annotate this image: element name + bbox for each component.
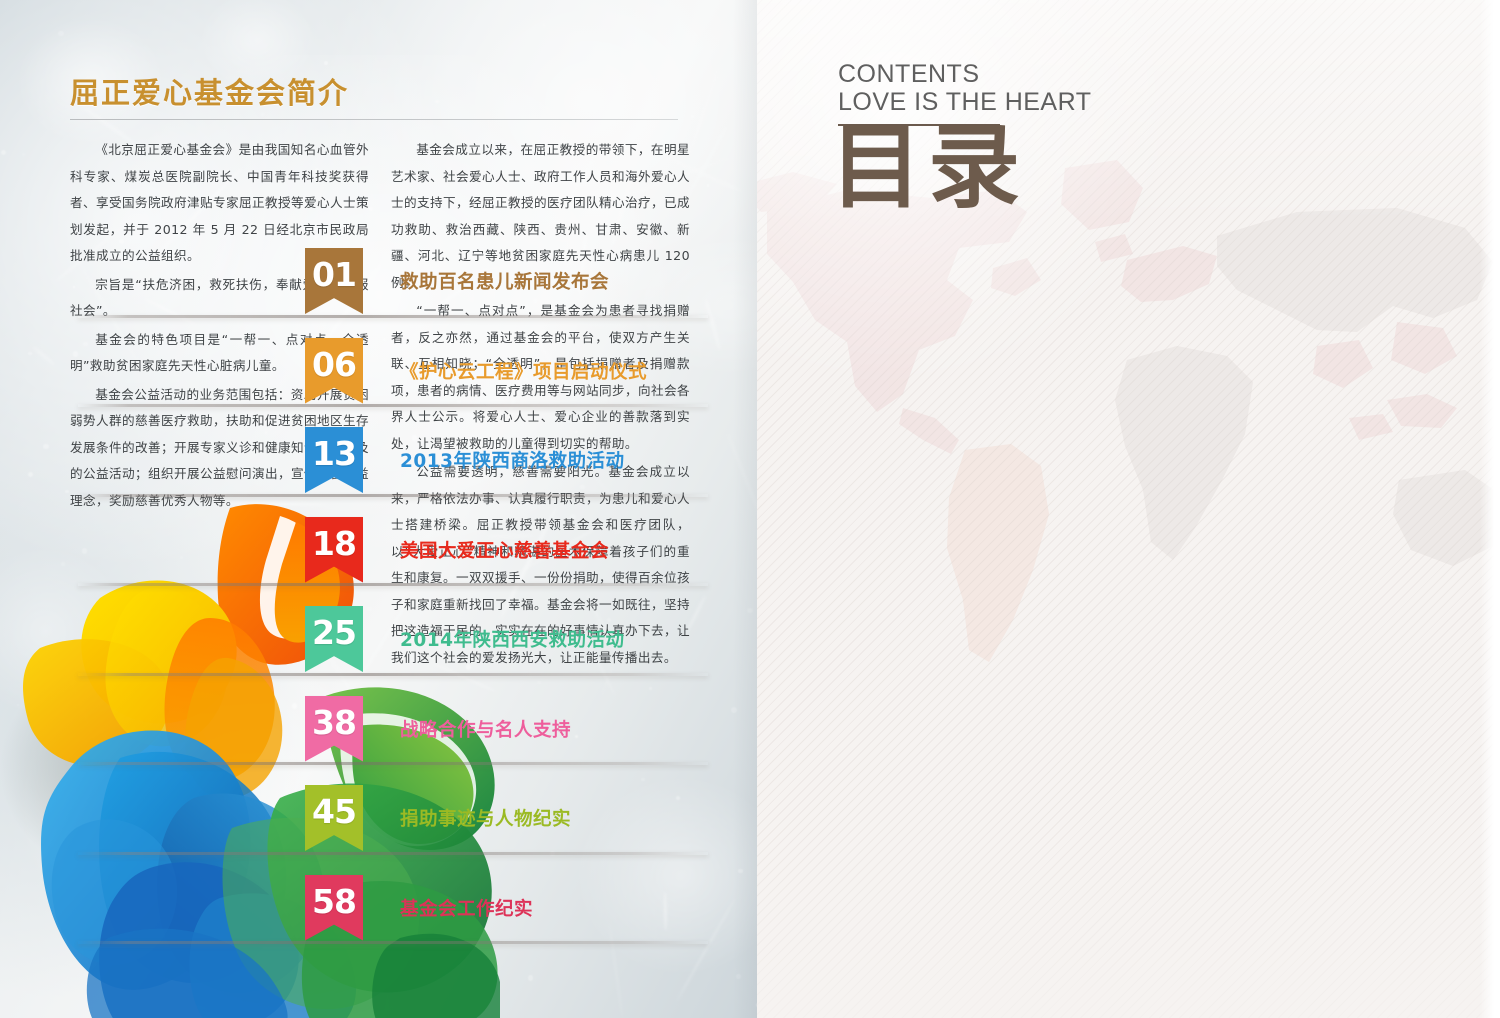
page-number-ribbon-icon: 45 (305, 785, 363, 851)
table-of-contents: 01救助百名患儿新闻发布会06《护心云工程》项目启动仪式132013年陕西商洛救… (0, 0, 743, 1018)
toc-page-number: 18 (312, 524, 356, 563)
toc-entry-label[interactable]: 战略合作与名人支持 (400, 716, 571, 742)
toc-entry-label[interactable]: 救助百名患儿新闻发布会 (400, 268, 609, 294)
toc-entry-label[interactable]: 2013年陕西商洛救助活动 (400, 447, 625, 473)
toc-entry-label[interactable]: 捐助事迹与人物纪实 (400, 805, 571, 831)
toc-page-number: 25 (312, 613, 356, 652)
contents-heading-cjk: 目录 (830, 120, 1026, 217)
toc-entry[interactable]: 252014年陕西西安救助活动 (0, 606, 743, 690)
toc-entry[interactable]: 18美国大爱正心慈善基金会 (0, 517, 743, 601)
toc-entry-label[interactable]: 基金会工作纪实 (400, 895, 533, 921)
toc-entry-label[interactable]: 美国大爱正心慈善基金会 (400, 537, 609, 563)
toc-entry-label[interactable]: 《护心云工程》项目启动仪式 (400, 358, 647, 384)
page-number-ribbon-icon: 13 (305, 427, 363, 493)
contents-heading-line2: LOVE IS THE HEART (838, 88, 1091, 117)
page-number-ribbon-icon: 25 (305, 606, 363, 672)
page-number-ribbon-icon: 18 (305, 517, 363, 583)
toc-entry[interactable]: 45捐助事迹与人物纪实 (0, 785, 743, 869)
toc-page-number: 58 (312, 882, 356, 921)
toc-page-number: 01 (312, 255, 356, 294)
toc-entry[interactable]: 01救助百名患儿新闻发布会 (0, 248, 743, 332)
toc-divider (78, 583, 708, 586)
toc-divider (78, 852, 708, 855)
toc-page-number: 38 (312, 703, 356, 742)
page-number-ribbon-icon: 58 (305, 875, 363, 941)
toc-page-number: 06 (312, 345, 356, 384)
page-number-ribbon-icon: 01 (305, 248, 363, 314)
toc-divider (78, 762, 708, 765)
toc-entry[interactable]: 132013年陕西商洛救助活动 (0, 427, 743, 511)
toc-divider (78, 673, 708, 676)
magazine-spread: 屈正爱心基金会简介 《北京屈正爱心基金会》是由我国知名心血管外科专家、煤炭总医院… (0, 0, 1500, 1018)
page-number-ribbon-icon: 06 (305, 338, 363, 404)
toc-entry[interactable]: 58基金会工作纪实 (0, 875, 743, 959)
toc-divider (78, 315, 708, 318)
toc-divider (78, 941, 708, 944)
toc-page-number: 45 (312, 792, 356, 831)
toc-entry[interactable]: 38战略合作与名人支持 (0, 696, 743, 780)
toc-divider (78, 494, 708, 497)
toc-entry[interactable]: 06《护心云工程》项目启动仪式 (0, 338, 743, 422)
toc-entry-label[interactable]: 2014年陕西西安救助活动 (400, 626, 625, 652)
page-number-ribbon-icon: 38 (305, 696, 363, 762)
contents-heading-line1: CONTENTS (838, 60, 980, 89)
world-map-watermark (757, 150, 1500, 710)
toc-page-number: 13 (312, 434, 356, 473)
toc-divider (78, 404, 708, 407)
